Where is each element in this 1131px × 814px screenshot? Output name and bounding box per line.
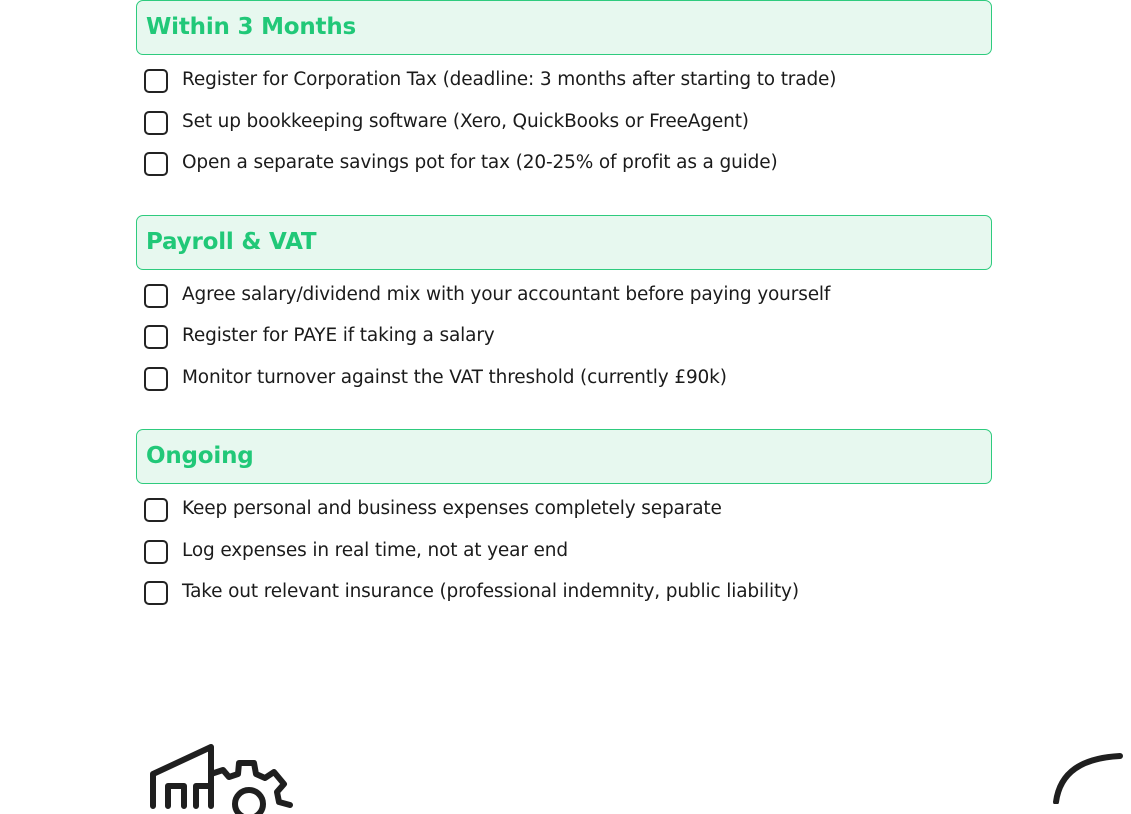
checklist-item[interactable]: Open a separate savings pot for tax (20-… — [136, 150, 992, 192]
checklist-item-label: Set up bookkeeping software (Xero, Quick… — [182, 109, 749, 135]
section-spacer — [136, 406, 992, 429]
checklist-item[interactable]: Log expenses in real time, not at year e… — [136, 538, 992, 580]
checkbox-icon[interactable] — [144, 498, 168, 522]
checklist-item-label: Open a separate savings pot for tax (20-… — [182, 150, 778, 176]
checklist-item-label: Monitor turnover against the VAT thresho… — [182, 365, 727, 391]
corner-arc-flourish-icon — [1016, 742, 1131, 804]
checklist-item-label: Agree salary/dividend mix with your acco… — [182, 282, 830, 308]
checklist-item[interactable]: Set up bookkeeping software (Xero, Quick… — [136, 109, 992, 151]
section-heading: Payroll & VAT — [146, 231, 316, 254]
checklist-item[interactable]: Register for PAYE if taking a salary — [136, 323, 992, 365]
checklist-section-ongoing: Ongoing Keep personal and business expen… — [136, 429, 992, 621]
checklist-item-label: Take out relevant insurance (professiona… — [182, 579, 799, 605]
section-heading: Within 3 Months — [146, 16, 356, 39]
section-items-list: Keep personal and business expenses comp… — [136, 484, 992, 621]
checkbox-icon[interactable] — [144, 69, 168, 93]
checkbox-icon[interactable] — [144, 284, 168, 308]
factory-gear-icon — [148, 744, 308, 814]
checkbox-icon[interactable] — [144, 111, 168, 135]
checklist-content: Within 3 Months Register for Corporation… — [136, 0, 992, 621]
checklist-item-label: Register for Corporation Tax (deadline: … — [182, 67, 836, 93]
section-heading: Ongoing — [146, 445, 254, 468]
checklist-item[interactable]: Register for Corporation Tax (deadline: … — [136, 67, 992, 109]
checklist-page: Within 3 Months Register for Corporation… — [0, 0, 1131, 800]
checkbox-icon[interactable] — [144, 325, 168, 349]
checkbox-icon[interactable] — [144, 152, 168, 176]
section-header-banner: Ongoing — [136, 429, 992, 484]
checklist-item[interactable]: Keep personal and business expenses comp… — [136, 496, 992, 538]
section-spacer — [136, 192, 992, 215]
checklist-item[interactable]: Monitor turnover against the VAT thresho… — [136, 365, 992, 407]
checklist-section-within-3-months: Within 3 Months Register for Corporation… — [136, 0, 992, 192]
checkbox-icon[interactable] — [144, 540, 168, 564]
checklist-item-label: Log expenses in real time, not at year e… — [182, 538, 568, 564]
checklist-item[interactable]: Agree salary/dividend mix with your acco… — [136, 282, 992, 324]
section-header-banner: Within 3 Months — [136, 0, 992, 55]
checklist-section-payroll-and-vat: Payroll & VAT Agree salary/dividend mix … — [136, 215, 992, 407]
checklist-item-label: Register for PAYE if taking a salary — [182, 323, 495, 349]
checklist-item[interactable]: Take out relevant insurance (professiona… — [136, 579, 992, 621]
section-items-list: Agree salary/dividend mix with your acco… — [136, 270, 992, 407]
section-header-banner: Payroll & VAT — [136, 215, 992, 270]
checkbox-icon[interactable] — [144, 581, 168, 605]
section-items-list: Register for Corporation Tax (deadline: … — [136, 55, 992, 192]
checkbox-icon[interactable] — [144, 367, 168, 391]
checklist-item-label: Keep personal and business expenses comp… — [182, 496, 722, 522]
